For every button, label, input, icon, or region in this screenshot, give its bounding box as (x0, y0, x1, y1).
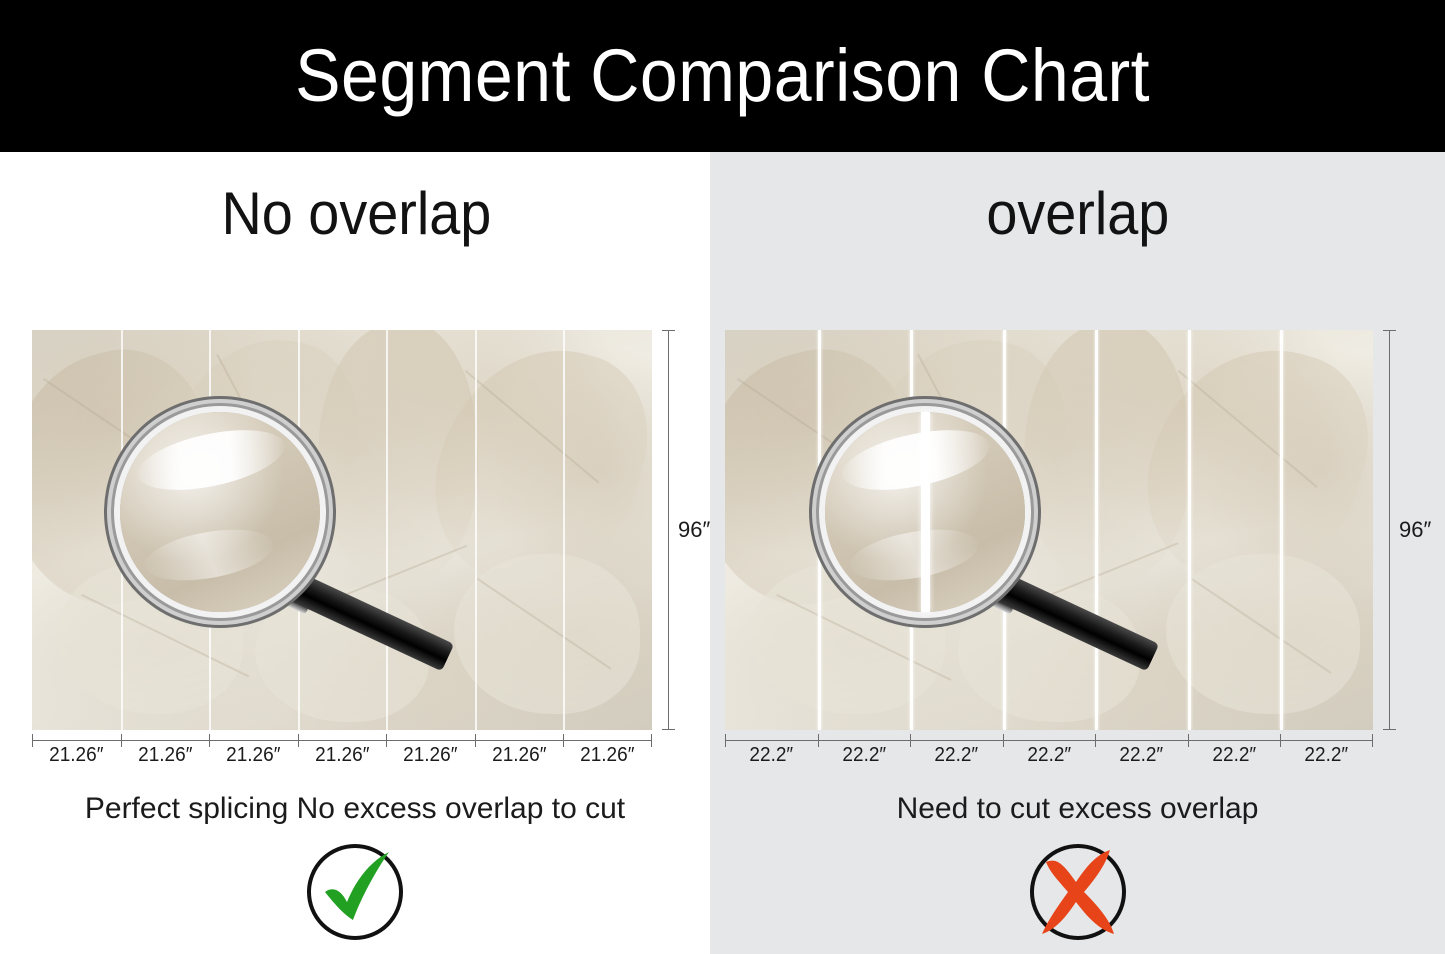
segment-labels-no-overlap: 21.26″ 21.26″ 21.26″ 21.26″ 21.26″ 21.26… (32, 744, 652, 767)
caption-no-overlap: Perfect splicing No excess overlap to cu… (0, 792, 740, 826)
width-dimension-overlap: 22.2″ 22.2″ 22.2″ 22.2″ 22.2″ 22.2″ 22.2… (725, 734, 1373, 778)
segment-seam-6 (563, 330, 565, 730)
segment-label: 21.26″ (211, 744, 295, 767)
segment-comparison-page: Segment Comparison Chart No overlap (0, 0, 1445, 954)
segment-label: 21.26″ (389, 744, 473, 767)
segment-seam-6 (1280, 330, 1283, 730)
status-badge (1026, 840, 1130, 944)
magnifier-lens (120, 412, 320, 612)
segment-label: 21.26″ (477, 744, 561, 767)
panel-heading-no-overlap: No overlap (26, 184, 724, 244)
width-dimension-no-overlap: 21.26″ 21.26″ 21.26″ 21.26″ 21.26″ 21.26… (32, 734, 652, 778)
panel-overlap: overlap (710, 152, 1445, 954)
segment-labels-overlap: 22.2″ 22.2″ 22.2″ 22.2″ 22.2″ 22.2″ 22.2… (725, 744, 1373, 767)
segment-label: 22.2″ (1283, 744, 1371, 767)
status-badge (303, 840, 407, 944)
wallpaper-mural-image (725, 330, 1373, 730)
status-overlap (710, 840, 1445, 944)
magnifier-icon (825, 412, 1025, 612)
caption-overlap: Need to cut excess overlap (710, 792, 1445, 826)
title-bar: Segment Comparison Chart (0, 0, 1445, 152)
height-label-no-overlap: 96″ (678, 517, 710, 543)
dimension-cap-bottom (662, 729, 675, 730)
segment-label: 21.26″ (34, 744, 118, 767)
panel-no-overlap: No overlap (0, 152, 710, 954)
dimension-line-horizontal (32, 740, 652, 741)
lens-highlight-secondary (141, 521, 277, 589)
segment-label: 21.26″ (566, 744, 650, 767)
dimension-line-horizontal (725, 740, 1373, 741)
segment-label: 22.2″ (1098, 744, 1186, 767)
segment-label: 21.26″ (123, 744, 207, 767)
segment-seam-4 (386, 330, 388, 730)
comparison-panels: No overlap (0, 152, 1445, 954)
status-no-overlap (0, 840, 740, 944)
dimension-line-vertical (668, 330, 669, 730)
dimension-cap-bottom (1383, 729, 1396, 730)
check-icon (303, 840, 407, 944)
magnifier-icon (120, 412, 320, 612)
segment-seam-1 (818, 330, 821, 730)
segment-label: 22.2″ (727, 744, 815, 767)
segment-label: 22.2″ (1190, 744, 1278, 767)
height-label-overlap: 96″ (1399, 517, 1431, 543)
segment-label: 22.2″ (820, 744, 908, 767)
lens-highlight (837, 419, 995, 501)
mural-no-overlap (32, 330, 652, 730)
lens-highlight (132, 419, 290, 501)
segment-seam-4 (1095, 330, 1098, 730)
segment-label: 22.2″ (912, 744, 1000, 767)
panel-heading-overlap: overlap (736, 184, 1429, 244)
segment-label: 21.26″ (300, 744, 384, 767)
segment-seam-5 (475, 330, 477, 730)
segment-seam-5 (1188, 330, 1191, 730)
segment-label: 22.2″ (1005, 744, 1093, 767)
magnifier-lens (825, 412, 1025, 612)
dimension-line-vertical (1389, 330, 1390, 730)
page-title: Segment Comparison Chart (295, 39, 1150, 113)
lens-highlight-secondary (846, 521, 982, 589)
mural-overlap (725, 330, 1373, 730)
cross-icon (1026, 840, 1130, 944)
